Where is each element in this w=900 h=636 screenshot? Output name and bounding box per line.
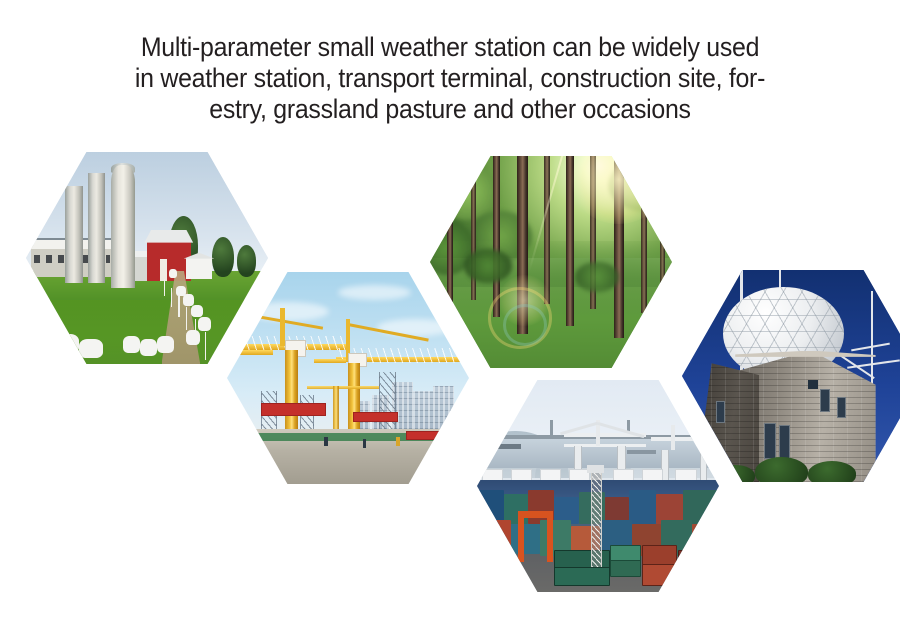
cloud [338,285,411,300]
container-stack [692,524,719,556]
cow [198,317,211,331]
cow [157,336,174,353]
forest-floor [430,287,672,368]
apartment-block [433,386,455,428]
construction-scene-illustration [227,272,469,484]
building-window [820,389,830,412]
gantry-apex [671,425,675,450]
grain-silo [88,173,105,283]
container-stack [629,490,656,524]
container-stack [511,524,540,554]
container-foreground [610,560,641,577]
straddle-carrier [547,516,553,563]
foliage-clump [435,164,498,219]
tree-trunk [544,156,550,304]
straddle-carrier [518,516,524,563]
grain-silo [111,165,135,288]
fern-clump [575,262,619,292]
crane-jib [307,386,380,389]
white-outbuilding [186,258,213,279]
fence-post [164,279,165,296]
worker [396,437,400,445]
site-banner [406,431,452,440]
cow [123,336,140,353]
hex-image-construction-site [227,272,469,484]
cow [183,294,194,306]
excavated-rubble [227,450,469,484]
cow [191,305,203,318]
light-mast-head [587,465,604,473]
cargo-ship [627,450,656,454]
container-foreground [642,545,678,566]
fence-post [186,307,187,330]
forest-scene-illustration [430,156,672,368]
container-foreground [477,558,513,579]
worker [363,439,367,447]
fence-post [205,332,206,360]
tree-trunk [641,156,648,313]
cow [186,330,201,345]
cow [169,269,177,279]
container-foreground [642,564,678,585]
hex-image-forestry [430,156,672,368]
shrub [716,465,755,482]
building-window [716,401,725,422]
tree [237,245,256,277]
lattice-light-mast [591,469,603,567]
crane-counter-jib [234,350,273,354]
cow [140,339,157,356]
cow [79,339,103,358]
poster-canvas: Multi-parameter small weather station ca… [0,0,900,636]
tree-trunk [660,156,665,296]
hex-image-grassland-pasture [26,152,268,364]
hex-image-transport-terminal [477,380,719,592]
shrub [755,457,808,482]
antenna-mast [871,291,873,397]
page-title: Multi-parameter small weather station ca… [74,32,826,125]
bridge-pylon [550,420,553,437]
site-banner [261,403,326,416]
shrub [808,461,856,482]
hex-image-weather-station [682,270,900,482]
building-vent [808,380,818,388]
tree [212,237,234,277]
apartment-block [413,391,432,429]
cargo-ship [487,444,521,449]
container-stack [479,520,510,554]
fence-post [171,288,172,307]
tree-trunk [447,156,453,313]
building-window [764,423,776,459]
farm-scene-illustration [26,152,268,364]
fence-post [178,296,179,317]
container-foreground [678,550,719,571]
building-window [779,425,791,461]
grain-silo [65,186,83,284]
site-banner [353,412,399,422]
radar-scene-illustration [682,270,900,482]
worker [324,437,328,445]
port-scene-illustration [477,380,719,592]
cow [55,334,79,353]
building-window [837,397,846,418]
crane-counter-jib [314,359,345,363]
cloud [246,302,328,321]
gantry-boom [651,437,719,440]
container-foreground [554,567,609,586]
red-barn-door [160,259,167,281]
red-barn-roof [144,230,193,243]
straddle-carrier-beam [518,511,553,517]
